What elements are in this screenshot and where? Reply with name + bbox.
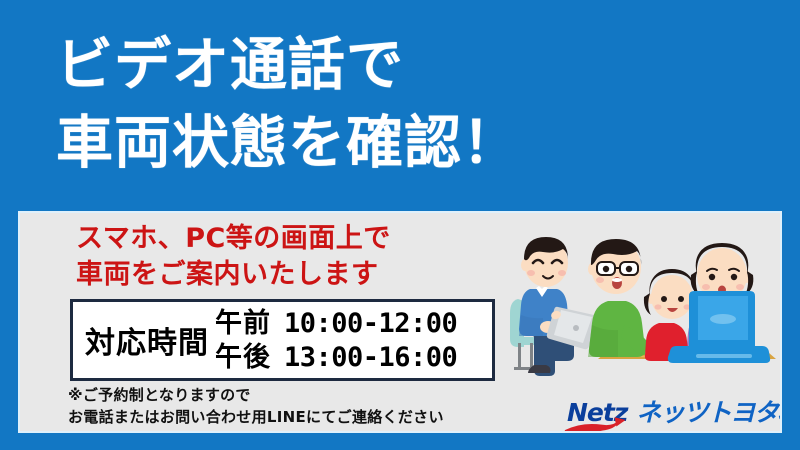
dealer-name-text: ネッツトヨタ栃木 <box>636 400 782 425</box>
business-hours-rows: 午前 10:00-12:00 午後 13:00-16:00 <box>215 307 492 374</box>
business-hours-label: 対応時間 <box>73 318 215 362</box>
headline-line-2: 車両状態を確認！ <box>56 104 756 182</box>
lead-copy: スマホ、PC等の画面上で 車両をご案内いたします <box>76 221 391 293</box>
netz-brand-text: Netz <box>565 400 629 425</box>
promo-banner: ビデオ通話で 車両状態を確認！ スマホ、PC等の画面上で 車両をご案内いたします… <box>0 0 800 450</box>
hours-row-morning: 午前 10:00-12:00 <box>215 307 492 340</box>
hours-row-afternoon: 午後 13:00-16:00 <box>215 341 492 374</box>
footnote-line-2: お電話またはお問い合わせ用LINEにてご連絡ください <box>68 406 444 428</box>
dealer-logo: Netz ネッツトヨタ栃木 <box>565 395 775 429</box>
lead-line-1: スマホ、PC等の画面上で <box>76 221 391 257</box>
netz-swoosh-icon <box>563 414 627 433</box>
reservation-note: ※ご予約制となりますので お電話またはお問い合わせ用LINEにてご連絡ください <box>68 384 444 428</box>
hours-time-afternoon: 13:00-16:00 <box>284 341 457 374</box>
video-call-illustration <box>500 227 782 379</box>
headline-line-1: ビデオ通話で <box>56 26 756 104</box>
content-panel: スマホ、PC等の画面上で 車両をご案内いたします 対応時間 午前 10:00-1… <box>18 211 782 433</box>
page-title: ビデオ通話で 車両状態を確認！ <box>56 26 756 182</box>
footnote-line-1: ※ご予約制となりますので <box>68 384 444 406</box>
business-hours-box: 対応時間 午前 10:00-12:00 午後 13:00-16:00 <box>70 299 495 381</box>
hours-period-morning: 午前 <box>215 307 271 340</box>
lead-line-2: 車両をご案内いたします <box>76 257 391 293</box>
hours-period-afternoon: 午後 <box>215 341 271 374</box>
hours-time-morning: 10:00-12:00 <box>284 307 457 340</box>
staff-figure <box>510 237 597 376</box>
